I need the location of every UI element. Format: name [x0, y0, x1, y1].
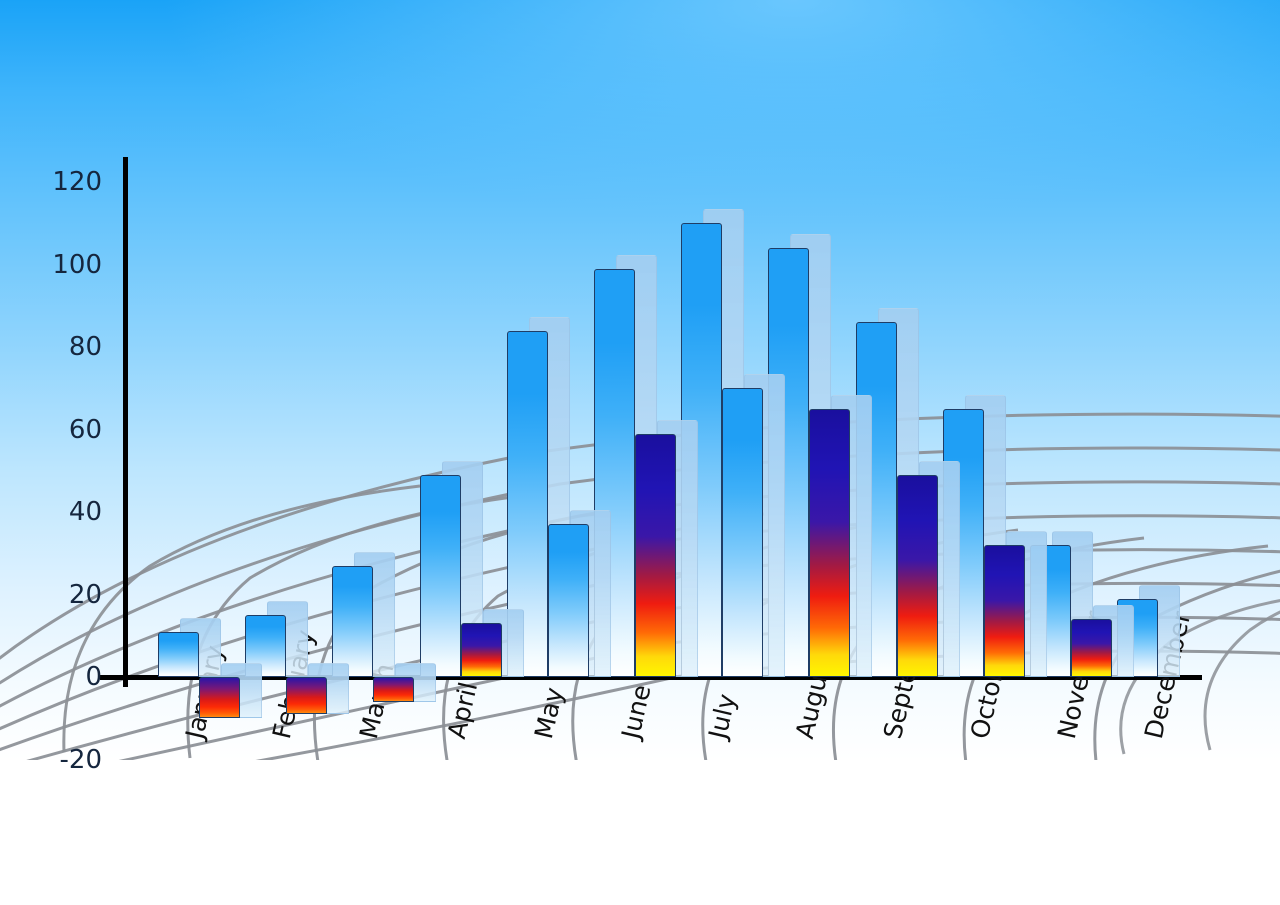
bar[interactable]	[722, 388, 763, 677]
bar[interactable]	[635, 434, 676, 677]
bar[interactable]	[420, 475, 461, 677]
x-category-label: June	[616, 682, 657, 742]
bar[interactable]	[373, 677, 414, 702]
y-tick-label: -20	[40, 745, 102, 775]
plot-area: -20020406080100120 JanuaryFebruaryMarchA…	[0, 0, 1280, 905]
bar[interactable]	[548, 524, 589, 677]
chart-canvas: -20020406080100120 JanuaryFebruaryMarchA…	[0, 0, 1280, 905]
x-category-label: July	[703, 691, 741, 741]
y-tick-label: 60	[40, 415, 102, 445]
y-tick-label: 0	[40, 662, 102, 692]
y-tick-label: 100	[40, 250, 102, 280]
bar[interactable]	[984, 545, 1025, 677]
y-tick-label: 120	[40, 167, 102, 197]
y-axis-line	[123, 157, 128, 687]
bar[interactable]	[897, 475, 938, 677]
bar[interactable]	[332, 566, 373, 677]
bar[interactable]	[461, 623, 502, 677]
bar[interactable]	[158, 632, 199, 677]
y-tick-label: 80	[40, 332, 102, 362]
bar[interactable]	[286, 677, 327, 714]
x-category-label: April	[442, 679, 483, 741]
y-tick-label: 40	[40, 497, 102, 527]
x-category-label: May	[529, 685, 569, 742]
bar[interactable]	[809, 409, 850, 677]
bar[interactable]	[199, 677, 240, 718]
bar[interactable]	[1071, 619, 1112, 677]
y-tick-label: 20	[40, 580, 102, 610]
